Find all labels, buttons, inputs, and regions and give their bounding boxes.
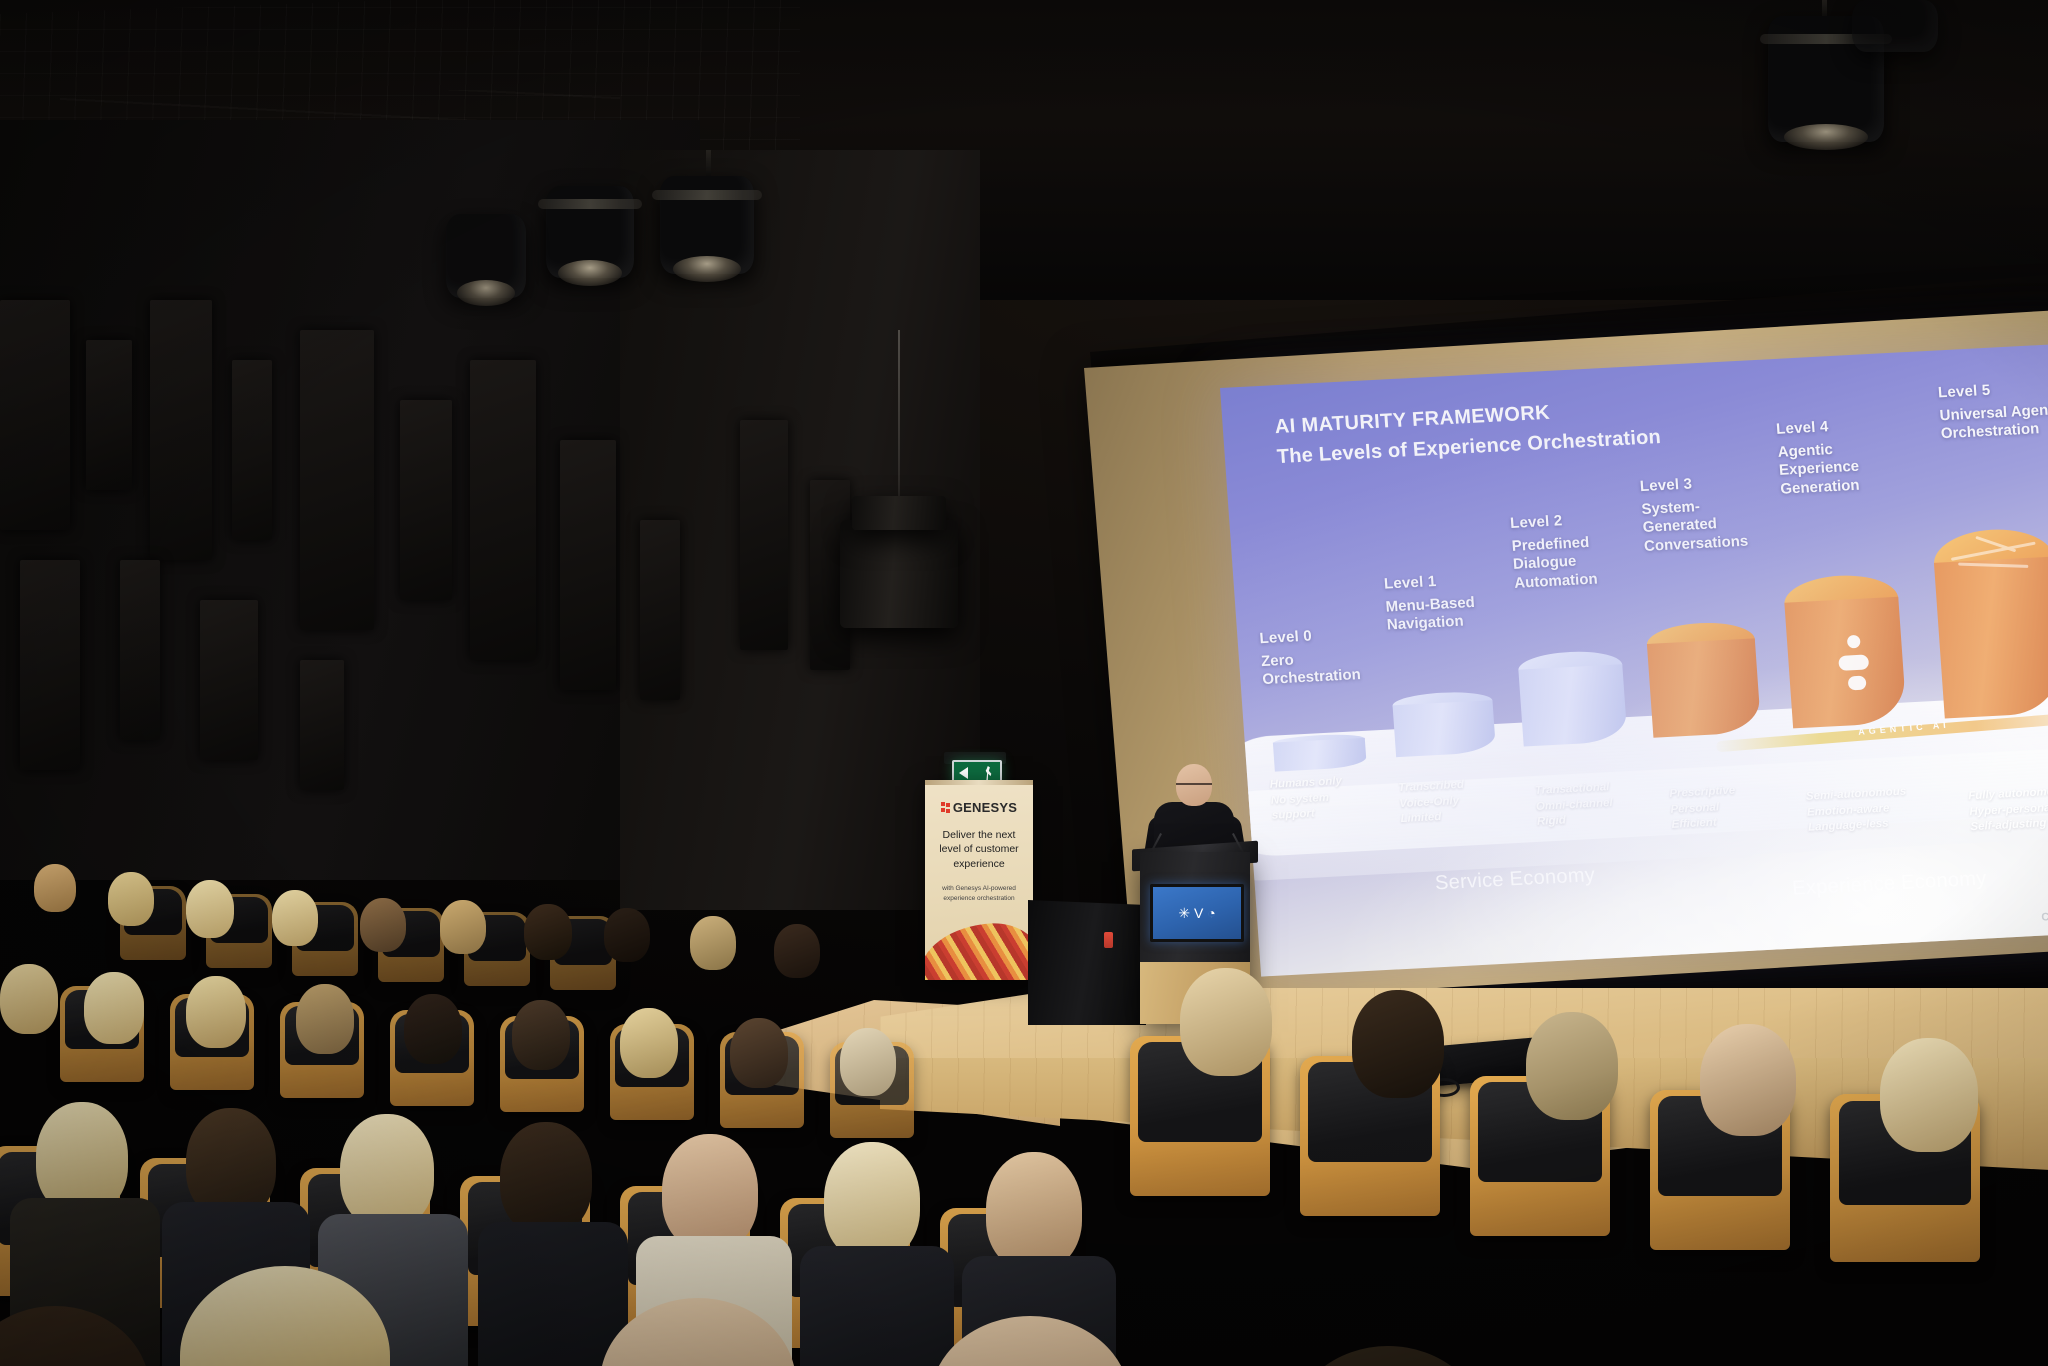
level-label-2: Level 2 Predefined Dialogue Automation xyxy=(1510,509,1637,593)
spotlight-yoke xyxy=(652,190,762,200)
audience-head xyxy=(730,1018,788,1088)
ceiling-spotlight xyxy=(546,186,634,278)
spotlight-yoke xyxy=(538,199,642,209)
level-label-5: Level 5 Universal Agentic Orchestration xyxy=(1937,378,2048,444)
level-label-4: Level 4 Agentic Experience Generation xyxy=(1776,415,1901,499)
acoustic-panel xyxy=(400,400,452,600)
block-body xyxy=(1393,700,1497,757)
level-block-1 xyxy=(1392,690,1496,757)
level-label-0: Level 0 Zero Orchestration xyxy=(1259,624,1383,690)
level-block-4 xyxy=(1783,573,1907,729)
audience-head xyxy=(440,900,486,954)
audience-head xyxy=(340,1114,434,1228)
level-title: Predefined Dialogue Automation xyxy=(1511,532,1637,593)
genesys-wire-motif xyxy=(1949,538,2042,589)
level-block-2 xyxy=(1517,649,1627,746)
acoustic-panel xyxy=(640,520,680,700)
block-body xyxy=(1518,664,1627,747)
spotlight-lens xyxy=(1784,124,1868,150)
presentation-slide: AI MATURITY FRAMEWORK The Levels of Expe… xyxy=(1220,343,2048,977)
level-number: Level 2 xyxy=(1510,509,1633,532)
acoustic-panel xyxy=(150,300,212,560)
acoustic-panel xyxy=(560,440,616,690)
audience-head xyxy=(1180,968,1272,1076)
genesys-dot-motif xyxy=(1837,634,1875,692)
audience-head xyxy=(186,880,234,938)
acoustic-panel xyxy=(740,420,788,650)
audience-torso xyxy=(800,1246,954,1366)
level-label-3: Level 3 System-Generated Conversations xyxy=(1639,472,1766,556)
hanging-loudspeaker xyxy=(840,520,958,628)
audience-head xyxy=(620,1008,678,1078)
audience-head xyxy=(512,1000,570,1070)
hanging-loudspeaker-bracket xyxy=(852,496,946,530)
level-descriptors-5: Fully autonomous Hyper-personal Self-adj… xyxy=(1968,785,2048,836)
ceiling-spotlight xyxy=(660,176,754,274)
level-number: Level 4 xyxy=(1776,415,1897,438)
economy-label-experience: Experience Economy xyxy=(1792,868,1988,901)
level-descriptors-4: Semi-autonomous Emotion-aware Language-l… xyxy=(1805,785,1908,836)
acoustic-panel xyxy=(20,560,80,770)
spotlight-lens xyxy=(673,256,741,282)
level-number: Level 3 xyxy=(1639,472,1762,495)
block-body xyxy=(1273,738,1367,771)
level-descriptors-1: Transcribed Voice-Only Limited xyxy=(1398,778,1467,827)
genesys-wordmark: GENESYS xyxy=(953,800,1017,815)
audience-head xyxy=(604,908,650,962)
level-descriptors-3: Prescriptive Personal Efficient xyxy=(1669,784,1738,833)
banner-top-rail xyxy=(925,780,1033,785)
audience-head xyxy=(108,872,154,926)
audience-head xyxy=(774,924,820,978)
audience-torso xyxy=(478,1222,628,1366)
acoustic-panel xyxy=(86,340,132,490)
acoustic-panel xyxy=(120,560,160,740)
audience-head xyxy=(0,964,58,1034)
audience-head xyxy=(296,984,354,1054)
speaker-glasses xyxy=(1176,783,1212,791)
audience-head xyxy=(500,1122,592,1234)
acoustic-panel xyxy=(470,360,536,660)
running-man-icon xyxy=(985,766,992,780)
audience-head-bald xyxy=(986,1152,1082,1270)
auditorium-photo: AI MATURITY FRAMEWORK The Levels of Expe… xyxy=(0,0,2048,1366)
level-title: Universal Agentic Orchestration xyxy=(1939,401,2048,444)
block-body xyxy=(1647,638,1761,738)
acoustic-panel xyxy=(300,330,374,630)
spotlight-lens xyxy=(558,260,621,286)
audience-head xyxy=(524,904,572,960)
exit-arrow-icon xyxy=(959,767,968,779)
level-title: Agentic Experience Generation xyxy=(1777,438,1901,499)
acoustic-panel xyxy=(0,300,70,530)
confidential-mark: Confidential xyxy=(2041,908,2048,923)
level-block-0 xyxy=(1273,733,1367,772)
acoustic-panel xyxy=(300,660,344,790)
audience-head xyxy=(1880,1038,1978,1152)
audience-head xyxy=(34,864,76,912)
level-block-5 xyxy=(1932,527,2048,719)
audience-head-bald xyxy=(1700,1024,1796,1136)
audience-head xyxy=(84,972,144,1044)
audience-head xyxy=(360,898,406,952)
audience-head xyxy=(186,976,246,1048)
ceiling-spotlight xyxy=(1852,0,1938,52)
level-label-1: Level 1 Menu-Based Navigation xyxy=(1383,569,1507,635)
genesys-mark-icon xyxy=(941,802,950,813)
level-block-3 xyxy=(1646,620,1762,737)
audience-head xyxy=(1526,1012,1618,1120)
audience-head xyxy=(1352,990,1444,1098)
acoustic-panel xyxy=(232,360,272,540)
level-number: Level 5 xyxy=(1937,378,2048,402)
audience-head xyxy=(840,1028,896,1096)
genesys-logo: GENESYS xyxy=(925,800,1033,815)
audience-head xyxy=(404,994,462,1064)
level-title: System-Generated Conversations xyxy=(1641,495,1767,556)
ceiling-spotlight xyxy=(446,214,526,298)
acoustic-panel xyxy=(200,600,258,760)
audience-head xyxy=(690,916,736,970)
level-title: Menu-Based Navigation xyxy=(1385,592,1507,635)
level-title: Zero Orchestration xyxy=(1261,647,1383,690)
audience-head xyxy=(272,890,318,946)
speaker-suspension-wire xyxy=(898,330,900,520)
level-number: Level 0 xyxy=(1259,624,1380,647)
level-descriptors-0: Humans only No system support xyxy=(1269,775,1344,824)
audience-head xyxy=(824,1142,920,1260)
slide-header: AI MATURITY FRAMEWORK The Levels of Expe… xyxy=(1274,395,1662,469)
audience xyxy=(0,846,1180,1366)
level-descriptors-2: Transactional Omni-channel Rigid xyxy=(1534,780,1614,829)
level-number: Level 1 xyxy=(1383,569,1504,592)
audience-head-bald xyxy=(662,1134,758,1250)
spotlight-lens xyxy=(457,280,515,306)
